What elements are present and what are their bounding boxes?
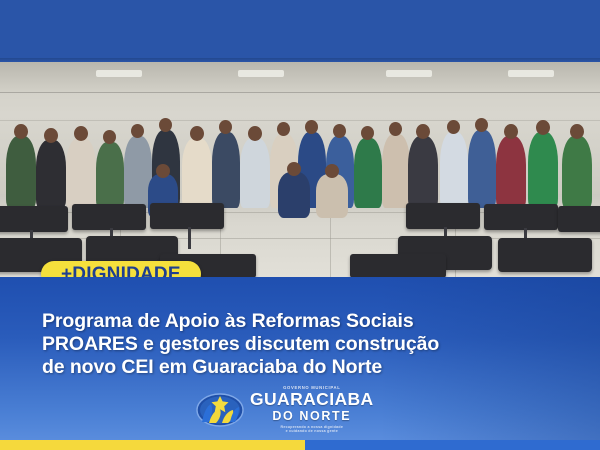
- person-head: [248, 126, 262, 141]
- person-head: [361, 126, 374, 140]
- person-silhouette: [240, 138, 270, 208]
- chair: [484, 204, 558, 230]
- person-head: [325, 164, 339, 178]
- person-head: [389, 122, 402, 136]
- person-head: [74, 126, 88, 141]
- person-head: [536, 120, 550, 135]
- person-silhouette: [496, 136, 526, 208]
- person-head: [333, 124, 346, 138]
- photo-scene: [0, 62, 600, 278]
- person-head: [156, 164, 170, 178]
- chair: [72, 204, 146, 230]
- wall-seam: [0, 92, 600, 93]
- person-silhouette: [382, 134, 410, 208]
- person-silhouette: [562, 136, 592, 208]
- logo-gov-line: GOVERNO MUNICIPAL: [283, 386, 340, 390]
- chair: [150, 203, 224, 229]
- person-silhouette: [182, 138, 212, 208]
- person-head: [305, 120, 318, 134]
- chair: [406, 203, 480, 229]
- person-head: [131, 124, 144, 138]
- person-silhouette: [468, 130, 496, 208]
- headline: Programa de Apoio às Reformas Sociais PR…: [42, 310, 572, 379]
- person-head: [447, 120, 460, 134]
- person-silhouette: [6, 136, 36, 208]
- person-head: [277, 122, 290, 136]
- person-silhouette: [528, 132, 558, 208]
- person-silhouette: [316, 174, 348, 218]
- chair: [0, 206, 68, 232]
- headline-line-2: PROARES e gestores discutem construção: [42, 333, 572, 356]
- bottom-bar-blue: [305, 440, 600, 450]
- person-silhouette: [440, 132, 468, 208]
- ceiling-light-icon: [386, 70, 432, 77]
- chair: [498, 238, 592, 272]
- top-blue-band: [0, 0, 600, 62]
- room-ceiling: [0, 62, 600, 92]
- chair: [558, 206, 600, 232]
- logo-wordmark: GOVERNO MUNICIPAL GUARACIABA DO NORTE Re…: [250, 386, 374, 434]
- person-head: [103, 130, 116, 144]
- person-silhouette: [408, 136, 438, 208]
- person-silhouette: [36, 140, 66, 208]
- person-silhouette: [96, 142, 124, 208]
- ceiling-light-icon: [238, 70, 284, 77]
- logo-city-name: GUARACIABA: [250, 391, 374, 409]
- person-head: [159, 118, 172, 132]
- chair-leg: [188, 227, 191, 249]
- ceiling-light-icon: [508, 70, 554, 77]
- bottom-bar-yellow: [0, 440, 305, 450]
- guaraciaba-emblem-icon: [196, 392, 244, 428]
- headline-line-1: Programa de Apoio às Reformas Sociais: [42, 310, 572, 333]
- logo-tagline-line-2: e cuidando de nossa gente: [281, 429, 344, 434]
- person-head: [416, 124, 430, 139]
- headline-line-3: de novo CEI em Guaraciaba do Norte: [42, 356, 572, 379]
- person-head: [504, 124, 518, 139]
- person-silhouette: [212, 132, 240, 208]
- chair: [350, 254, 446, 278]
- ceiling-light-icon: [96, 70, 142, 77]
- logo-city-sub: DO NORTE: [272, 409, 351, 423]
- person-silhouette: [66, 138, 96, 208]
- person-silhouette: [354, 138, 382, 208]
- event-photo: [0, 62, 600, 278]
- person-head: [219, 120, 232, 134]
- person-head: [44, 128, 58, 143]
- person-head: [190, 126, 204, 141]
- person-head: [287, 162, 301, 176]
- person-head: [475, 118, 488, 132]
- person-silhouette: [278, 172, 310, 218]
- municipality-logo: GOVERNO MUNICIPAL GUARACIABA DO NORTE Re…: [196, 386, 374, 434]
- logo-tagline: Recuperando a nossa dignidade e cuidando…: [281, 425, 344, 435]
- person-head: [570, 124, 584, 139]
- wall-seam: [0, 120, 600, 121]
- news-poster: +DIGNIDADE Programa de Apoio às Reformas…: [0, 0, 600, 450]
- person-head: [14, 124, 28, 139]
